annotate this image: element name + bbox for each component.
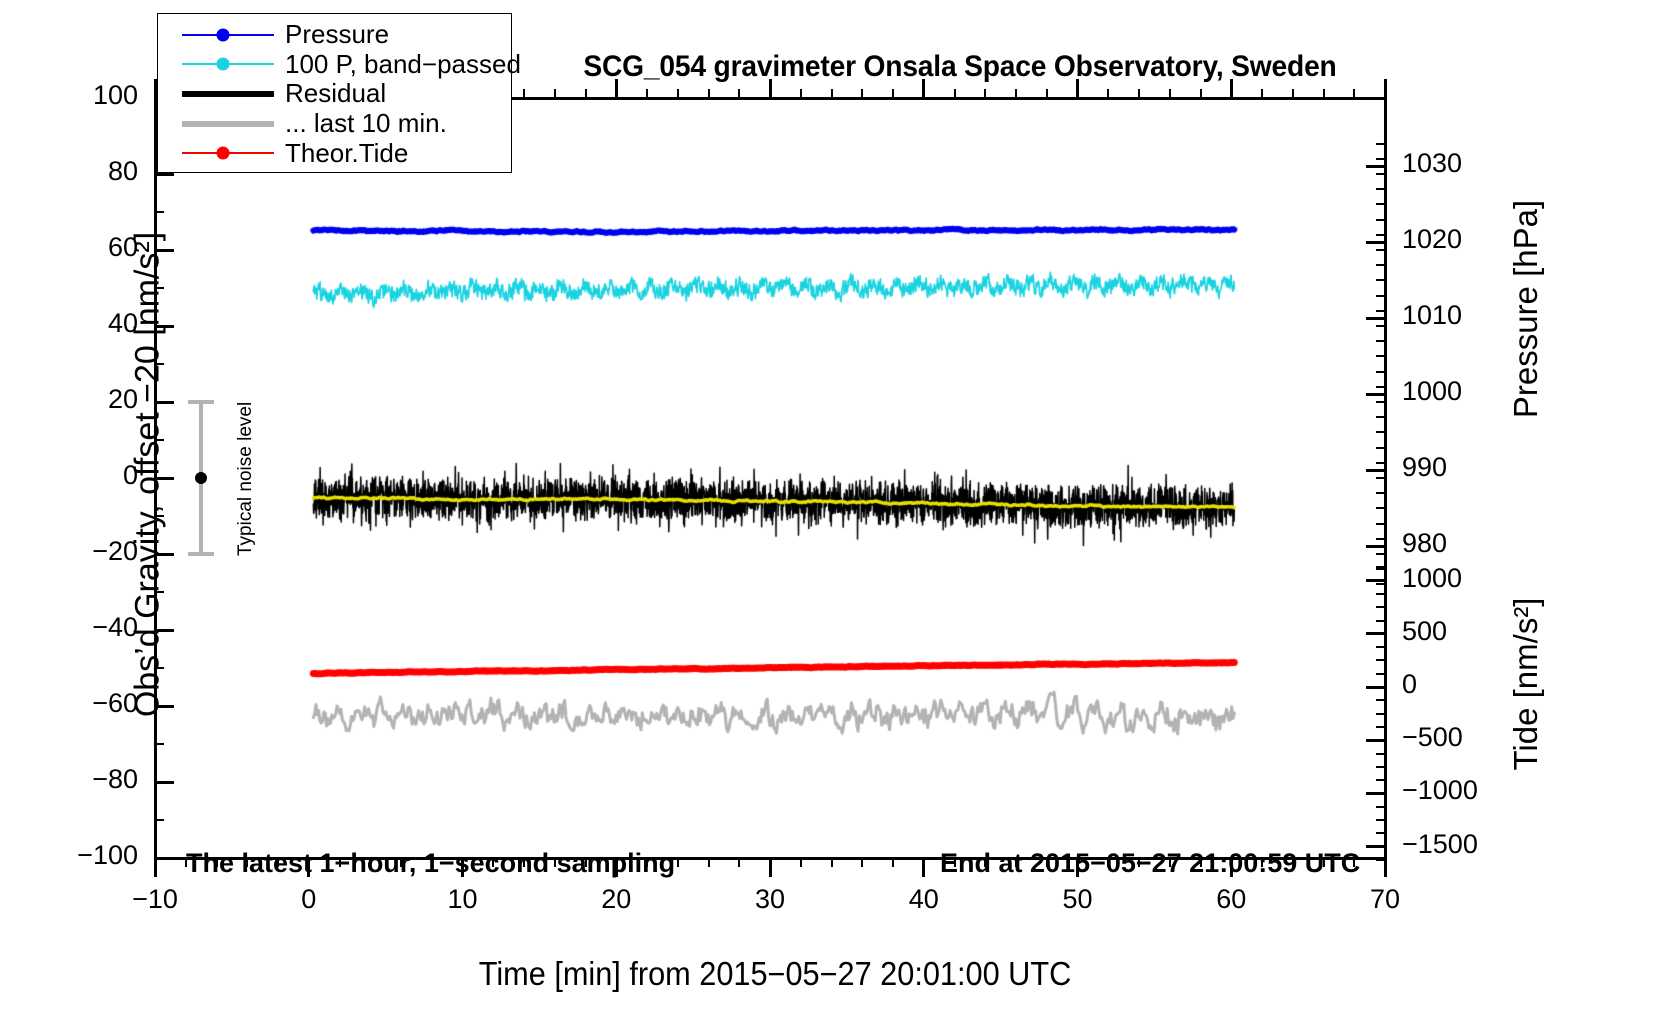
x-axis-major-tick [461,858,464,877]
y-axis-tide-minor-tick [1376,726,1385,728]
x-axis-minor-tick [800,858,802,867]
x-axis-minor-tick-top [1138,89,1140,98]
x-axis-minor-tick [277,858,279,867]
x-axis-minor-tick-top [738,89,740,98]
y-axis-pressure-minor-tick [1376,538,1385,540]
x-axis-minor-tick [554,858,556,867]
x-axis-tick-label: 0 [249,884,369,915]
y-axis-pressure-minor-tick [1376,234,1385,236]
x-axis-minor-tick-top [831,89,833,98]
x-axis-minor-tick [523,858,525,867]
x-axis-minor-tick [708,858,710,867]
x-axis-major-tick-top [1230,79,1233,98]
x-axis-tick-label: 60 [1171,884,1291,915]
x-axis-minor-tick [1015,858,1017,867]
y-axis-left-major-tick [155,629,174,632]
x-axis-minor-tick [431,858,433,867]
legend-item-4[interactable]: Theor.Tide [158,138,511,168]
y-axis-pressure-tick-label: 990 [1402,452,1522,483]
x-axis-major-tick-top [1076,79,1079,98]
x-axis-minor-tick-top [1353,89,1355,98]
legend-item-3[interactable]: ... last 10 min. [158,109,511,139]
y-axis-tide-minor-tick [1376,713,1385,715]
y-axis-left-tick-label: −100 [0,840,138,871]
x-axis-minor-tick [492,858,494,867]
x-axis-title: Time [min] from 2015−05−27 20:01:00 UTC [222,955,1329,993]
y-axis-left-major-tick [155,781,174,784]
x-axis-minor-tick-top [1107,89,1109,98]
x-axis-minor-tick [1107,858,1109,867]
y-axis-tide-tick-label: 0 [1402,669,1552,700]
x-axis-minor-tick-top [708,89,710,98]
y-axis-tide-major-tick [1366,579,1385,582]
x-axis-major-tick [307,858,310,877]
y-axis-pressure-minor-tick [1376,203,1385,205]
x-axis-minor-tick [216,858,218,867]
x-axis-major-tick-top [1384,79,1387,98]
y-axis-pressure-minor-tick [1376,523,1385,525]
y-axis-tide-minor-tick [1376,659,1385,661]
legend-swatch-icon [182,114,274,134]
y-axis-pressure-minor-tick [1376,492,1385,494]
y-axis-pressure-major-tick [1366,393,1385,396]
y-axis-left-minor-tick [155,439,164,441]
x-axis-major-tick [769,858,772,877]
y-axis-left-tick-label: −80 [0,764,138,795]
y-axis-left-major-tick [155,857,174,860]
y-axis-pressure-major-tick [1366,317,1385,320]
y-axis-left-minor-tick [155,363,164,365]
x-axis-minor-tick-top [800,89,802,98]
y-axis-tide-minor-tick [1376,646,1385,648]
y-axis-tide-minor-tick [1376,819,1385,821]
x-axis-minor-tick [646,858,648,867]
y-axis-pressure-tick-label: 1010 [1402,300,1522,331]
x-axis-minor-tick-top [1292,89,1294,98]
y-axis-left-tick-label: −40 [0,612,138,643]
x-axis-tick-label: 50 [1018,884,1138,915]
x-axis-minor-tick-top [1200,89,1202,98]
x-axis-minor-tick-top [954,89,956,98]
y-axis-tide-tick-label: −500 [1402,722,1552,753]
y-axis-left-major-tick [155,325,174,328]
legend-item-label: Residual [274,78,386,109]
x-axis-minor-tick [585,858,587,867]
y-axis-pressure-minor-tick [1376,340,1385,342]
legend-item-label: Pressure [274,19,389,50]
page-title: SCG_054 gravimeter Onsala Space Observat… [546,50,1373,84]
y-axis-tide-minor-tick [1376,566,1385,568]
y-axis-pressure-major-tick [1366,469,1385,472]
x-axis-minor-tick-top [1261,89,1263,98]
y-axis-pressure-minor-tick [1376,355,1385,357]
y-axis-pressure-tick-label: 1030 [1402,148,1522,179]
x-axis-tick-label: 10 [403,884,523,915]
x-axis-tick-label: 20 [556,884,676,915]
y-axis-pressure-major-tick [1366,241,1385,244]
y-axis-pressure-minor-tick [1376,447,1385,449]
x-axis-minor-tick [984,858,986,867]
y-axis-pressure-minor-tick [1376,249,1385,251]
y-axis-tide-minor-tick [1376,766,1385,768]
y-axis-left-major-tick [155,401,174,404]
y-axis-left-minor-tick [155,211,164,213]
noise-bar-bottom-cap [188,552,214,556]
y-axis-left-tick-label: 40 [0,308,138,339]
x-axis-minor-tick [246,858,248,867]
legend-item-label: ... last 10 min. [274,108,447,139]
y-axis-pressure-minor-tick [1376,295,1385,297]
y-axis-pressure-minor-tick [1376,279,1385,281]
legend-swatch-icon [182,25,274,45]
y-axis-tide-major-tick [1366,739,1385,742]
x-axis-minor-tick [1046,858,1048,867]
y-axis-pressure-minor-tick [1376,401,1385,403]
y-axis-left-tick-label: −20 [0,536,138,567]
x-axis-minor-tick-top [646,89,648,98]
legend-item-2[interactable]: Residual [158,79,511,109]
x-axis-minor-tick [1138,858,1140,867]
y-axis-pressure-minor-tick [1376,219,1385,221]
x-axis-major-tick [922,858,925,877]
y-axis-pressure-minor-tick [1376,462,1385,464]
footnote-end-time: End at 2015−05−27 21:00:59 UTC [940,848,1360,879]
y-axis-tide-major-tick [1366,792,1385,795]
x-axis-minor-tick [1200,858,1202,867]
y-axis-pressure-minor-tick [1376,431,1385,433]
y-axis-tide-minor-tick [1376,806,1385,808]
y-axis-tide-minor-tick [1376,859,1385,861]
y-axis-pressure-minor-tick [1376,264,1385,266]
y-axis-left-minor-tick [155,667,164,669]
legend: Pressure100 P, band−passedResidual... la… [157,13,512,173]
y-axis-pressure-minor-tick [1376,371,1385,373]
y-axis-left-tick-label: 20 [0,384,138,415]
x-axis-minor-tick [677,858,679,867]
y-axis-left-major-tick [155,249,174,252]
x-axis-major-tick-top [769,79,772,98]
x-axis-minor-tick [1353,858,1355,867]
y-axis-pressure-minor-tick [1376,158,1385,160]
x-axis-minor-tick [185,858,187,867]
y-axis-tide-tick-label: 500 [1402,616,1552,647]
x-axis-minor-tick-top [1169,89,1171,98]
y-axis-left-tick-label: 80 [0,156,138,187]
noise-bar-top-cap [188,400,214,404]
x-axis-minor-tick [339,858,341,867]
x-axis-minor-tick [1261,858,1263,867]
noise-marker-label: Typical noise level [235,402,257,556]
y-axis-pressure-tick-label: 1000 [1402,376,1522,407]
y-axis-tide-minor-tick [1376,753,1385,755]
y-axis-pressure-minor-tick [1376,416,1385,418]
y-axis-left-major-tick [155,705,174,708]
x-axis-minor-tick [1169,858,1171,867]
y-axis-left-major-tick [155,477,174,480]
legend-item-1[interactable]: 100 P, band−passed [158,50,511,80]
y-axis-tide-minor-tick [1376,553,1385,555]
y-axis-tide-major-tick [1366,845,1385,848]
x-axis-minor-tick [1323,858,1325,867]
x-axis-major-tick [1076,858,1079,877]
legend-item-label: Theor.Tide [274,138,408,169]
legend-swatch-icon [182,54,274,74]
y-axis-tide-minor-tick [1376,779,1385,781]
y-axis-left-tick-label: 100 [0,80,138,111]
y-axis-pressure-major-tick [1366,545,1385,548]
legend-swatch-icon [182,84,274,104]
x-axis-major-tick [1230,858,1233,877]
x-axis-minor-tick [892,858,894,867]
y-axis-pressure-major-tick [1366,165,1385,168]
y-axis-left-minor-tick [155,591,164,593]
y-axis-left-minor-tick [155,287,164,289]
y-axis-left-minor-tick [155,743,164,745]
x-axis-tick-label: 40 [864,884,984,915]
y-axis-pressure-minor-tick [1376,143,1385,145]
x-axis-minor-tick-top [523,89,525,98]
y-axis-tide-minor-tick [1376,832,1385,834]
x-axis-tick-label: −10 [95,884,215,915]
x-axis-minor-tick-top [861,89,863,98]
y-axis-tide-major-tick [1366,686,1385,689]
x-axis-minor-tick [1292,858,1294,867]
x-axis-major-tick [615,858,618,877]
y-axis-left-tick-label: 0 [0,460,138,491]
y-axis-tide-minor-tick [1376,673,1385,675]
y-axis-left-tick-label: −60 [0,688,138,719]
x-axis-minor-tick-top [1046,89,1048,98]
x-axis-major-tick-top [922,79,925,98]
y-axis-tide-minor-tick [1376,593,1385,595]
x-axis-minor-tick [400,858,402,867]
y-axis-tide-minor-tick [1376,606,1385,608]
y-axis-pressure-minor-tick [1376,173,1385,175]
y-axis-tide-tick-label: −1500 [1402,829,1552,860]
y-axis-pressure-minor-tick [1376,310,1385,312]
y-axis-pressure-minor-tick [1376,325,1385,327]
legend-item-label: 100 P, band−passed [274,49,521,80]
y-axis-pressure-minor-tick [1376,477,1385,479]
x-axis-minor-tick-top [1015,89,1017,98]
x-axis-minor-tick [738,858,740,867]
y-axis-pressure-minor-tick [1376,386,1385,388]
x-axis-minor-tick-top [984,89,986,98]
y-axis-pressure-minor-tick [1376,507,1385,509]
y-axis-tide-tick-label: 1000 [1402,563,1552,594]
y-axis-left-tick-label: 60 [0,232,138,263]
y-axis-tide-minor-tick [1376,699,1385,701]
x-axis-tick-label: 30 [710,884,830,915]
y-axis-tide-minor-tick [1376,620,1385,622]
legend-item-0[interactable]: Pressure [158,20,511,50]
x-axis-minor-tick-top [677,89,679,98]
x-axis-minor-tick [861,858,863,867]
x-axis-minor-tick [369,858,371,867]
x-axis-major-tick-top [615,79,618,98]
y-axis-tide-major-tick [1366,632,1385,635]
x-axis-minor-tick [954,858,956,867]
y-axis-tide-tick-label: −1000 [1402,775,1552,806]
x-axis-minor-tick [831,858,833,867]
x-axis-minor-tick-top [1323,89,1325,98]
x-axis-major-tick [154,858,157,877]
y-axis-pressure-minor-tick [1376,188,1385,190]
x-axis-minor-tick-top [892,89,894,98]
x-axis-minor-tick-top [554,89,556,98]
y-axis-left-minor-tick [155,819,164,821]
y-axis-left-minor-tick [155,515,164,517]
x-axis-tick-label: 70 [1325,884,1445,915]
x-axis-minor-tick-top [585,89,587,98]
gravimeter-plot-page: SCG_054 gravimeter Onsala Space Observat… [0,0,1660,1020]
y-axis-pressure-minor-tick [1376,568,1385,570]
legend-swatch-icon [182,143,274,163]
y-axis-pressure-minor-tick [1376,583,1385,585]
y-axis-pressure-tick-label: 980 [1402,528,1522,559]
y-axis-left-major-tick [155,553,174,556]
y-axis-pressure-tick-label: 1020 [1402,224,1522,255]
